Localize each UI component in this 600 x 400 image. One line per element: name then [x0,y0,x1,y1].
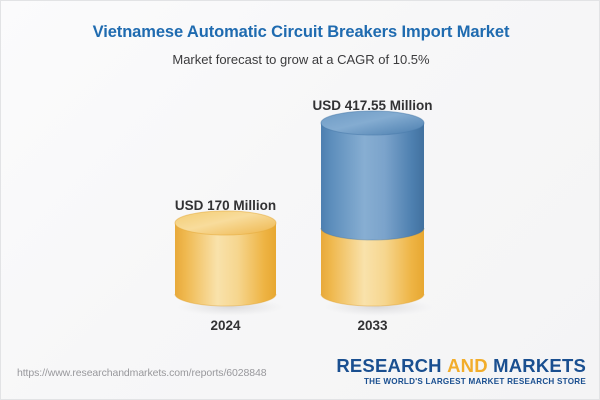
cylinder-bar-2024[interactable] [175,211,276,319]
logo-wordmark: RESEARCH AND MARKETS [336,356,586,375]
bar-group-2033: USD 417.55 Million [321,1,424,346]
bar-segment-blue-2033 [321,123,424,240]
report-url-link[interactable]: https://www.researchandmarkets.com/repor… [17,367,266,379]
infographic-card: Vietnamese Automatic Circuit Breakers Im… [0,0,600,400]
chart-plot-area: USD 170 Million [1,1,600,346]
logo-word-research: RESEARCH [336,355,441,376]
footer: https://www.researchandmarkets.com/repor… [1,347,600,399]
bar-category-label-2033: 2033 [263,318,483,333]
cylinder-bar-2033[interactable] [321,111,424,319]
logo-word-markets: MARKETS [493,355,586,376]
logo-word-and: AND [447,355,488,376]
logo-tagline: THE WORLD'S LARGEST MARKET RESEARCH STOR… [336,377,586,386]
research-and-markets-logo[interactable]: RESEARCH AND MARKETS THE WORLD'S LARGEST… [336,356,586,386]
bar-group-2024: USD 170 Million [175,1,276,346]
